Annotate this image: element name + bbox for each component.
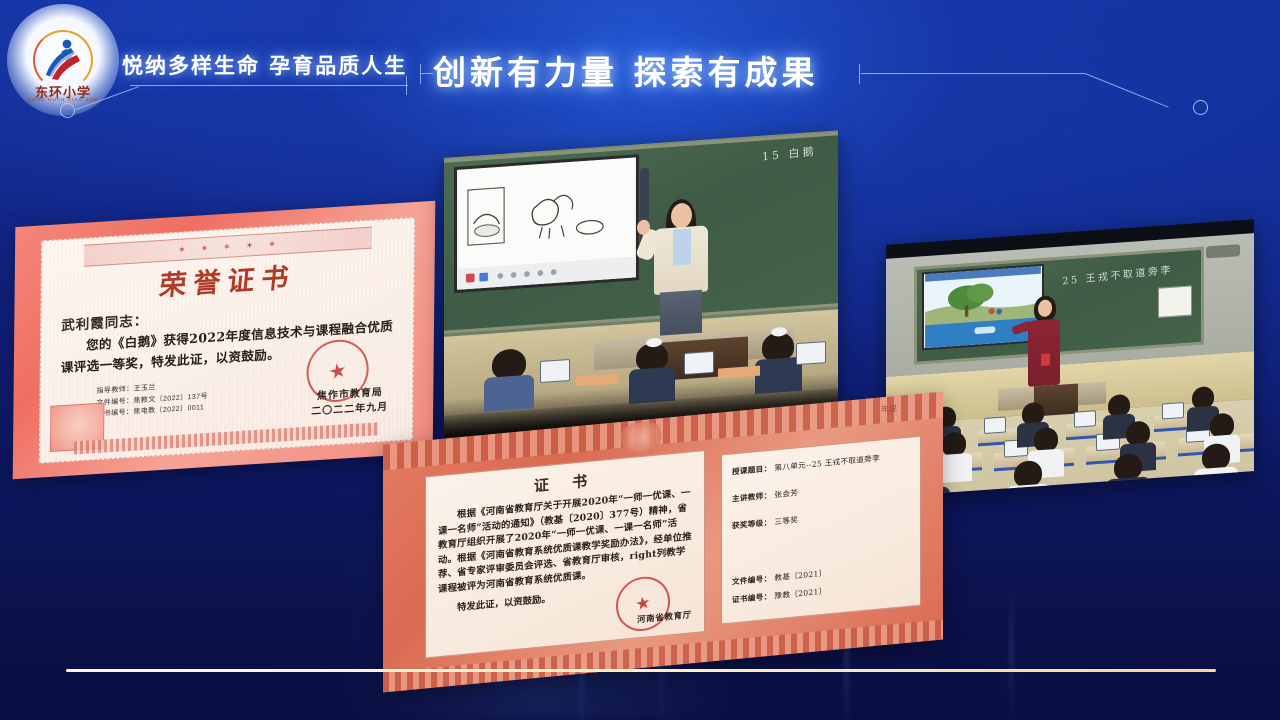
field-label: 主讲教师： (732, 491, 771, 504)
whiteboard-slide-image (457, 157, 636, 290)
student-tablet (796, 341, 826, 365)
motto-underline (130, 85, 408, 86)
slide-stage: 东环小学 DONG HUAN XIAO XUE 悦纳多样生命 孕育品质人生 创新… (0, 0, 1280, 720)
field-value: 张会芳 (774, 488, 798, 499)
title-diagonal-line (1085, 73, 1169, 108)
photo-center-scene: 15 白鹅 (444, 130, 838, 438)
province-certificate-card[interactable]: 年说 证 书 根据《河南省教育厅关于开展2020年“一师一优课、一课一名师”活动… (383, 392, 943, 693)
field-label: 授课题目： (732, 464, 771, 477)
field-value: 三等奖 (774, 515, 798, 526)
student-tablet (1162, 402, 1184, 420)
field-value: 豫教〔2021〕 (774, 587, 826, 601)
ornament-star-icon: ✶ (201, 242, 211, 254)
ornament-star-icon: ✶ (268, 238, 278, 250)
interactive-whiteboard (922, 264, 1044, 351)
title-end-circle-icon (1193, 100, 1208, 115)
field-label: 文件编号： (732, 574, 771, 587)
certificate-right-panel: 授课题目： 第八单元--25 王戎不取道旁李 主讲教师： 张会芳 获奖等级： 三… (721, 436, 921, 625)
student-tablet (540, 359, 570, 383)
field-label: 获奖等级： (732, 518, 771, 531)
ornament-star-icon: ✶ (223, 241, 233, 253)
honor-certificate-issuer: 焦作市教育局 二〇二二年九月 (311, 385, 388, 420)
field-value: 第八单元--25 王戎不取道旁李 (774, 453, 880, 472)
title-right-rule (861, 73, 1085, 74)
logo-figure-icon (40, 38, 86, 82)
classroom-photo-center[interactable]: 15 白鹅 (444, 130, 838, 438)
field-award-level: 获奖等级： 三等奖 (732, 504, 910, 533)
student-tablet (1074, 410, 1096, 428)
certificate-margin-note: 年说 (881, 403, 897, 416)
ornament-star-icon: ✶ (246, 240, 256, 252)
student-tablet (984, 416, 1006, 434)
light-ray (1010, 570, 1013, 720)
interactive-whiteboard (454, 154, 639, 293)
board-card-grid (1158, 285, 1192, 317)
field-teacher: 主讲教师： 张会芳 (732, 477, 910, 506)
field-lesson-title: 授课题目： 第八单元--25 王戎不取道旁李 (732, 450, 910, 479)
certificate-bottom-ornament (74, 422, 378, 454)
teacher-badge (1041, 353, 1050, 366)
ornament-star-icon: ✶ (178, 244, 188, 256)
wall-speaker-icon (1206, 244, 1240, 258)
honor-certificate-paper: ✶ ✶ ✶ ✶ ✶ 荣誉证书 武利霞同志： 您的《白鹅》获得2022年度信息技术… (39, 217, 415, 464)
student-tablet (684, 351, 714, 375)
certificate-left-panel: 证 书 根据《河南省教育厅关于开展2020年“一师一优课、一课一名师”活动的通知… (425, 450, 705, 658)
school-motto: 悦纳多样生命 孕育品质人生 (122, 50, 407, 80)
whiteboard-slide-image (924, 266, 1042, 348)
motto-end-circle-icon (60, 103, 75, 118)
field-label: 证书编号： (732, 592, 771, 605)
honor-certificate-recipient: 武利霞同志： (61, 309, 148, 334)
page-title: 创新有力量 探索有成果 (433, 46, 819, 94)
footer-divider (66, 669, 1216, 672)
teacher-blouse (673, 229, 691, 266)
field-value: 教基〔2021〕 (774, 569, 826, 583)
certificate-footer-fields: 文件编号： 教基〔2021〕 证书编号： 豫教〔2021〕 (732, 560, 910, 613)
title-left-dash (420, 73, 433, 74)
honor-certificate-meta: 指导教师：王玉兰 文件编号：焦教文〔2022〕137号 证书编号：焦电教〔202… (96, 379, 208, 421)
motto-underline-tick (406, 76, 407, 95)
honor-certificate-card[interactable]: ✶ ✶ ✶ ✶ ✶ 荣誉证书 武利霞同志： 您的《白鹅》获得2022年度信息技术… (13, 201, 436, 480)
